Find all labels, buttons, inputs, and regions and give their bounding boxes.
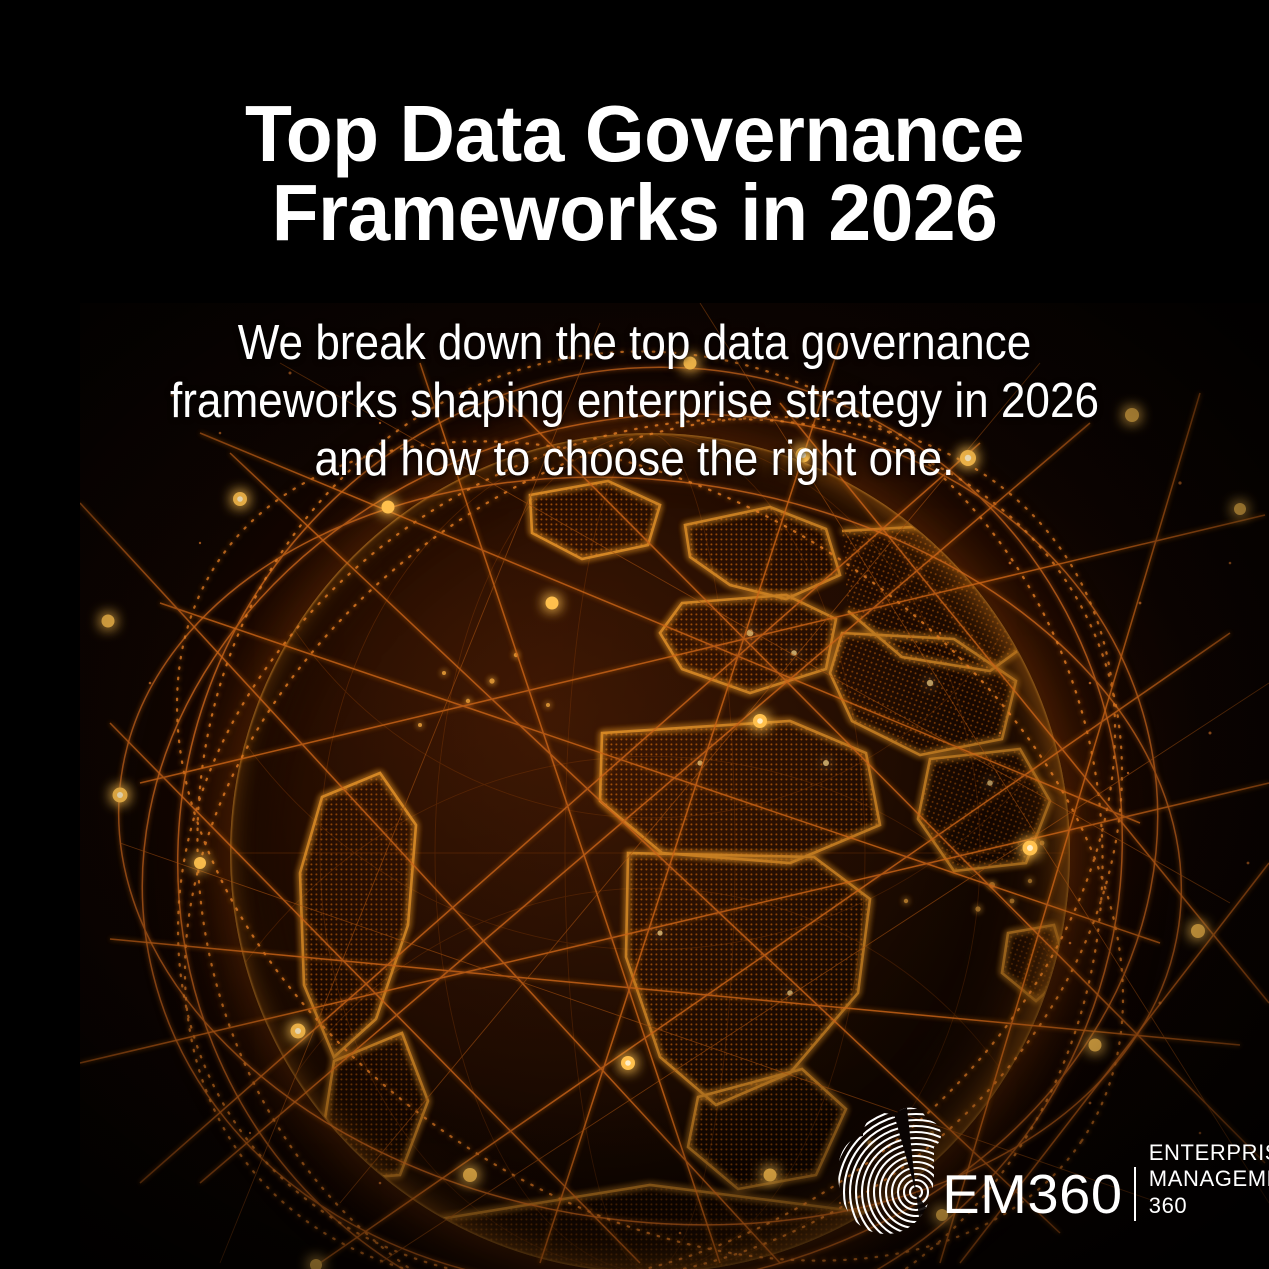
page-subtitle: We break down the top data governance fr… [63, 315, 1205, 488]
page-title: Top Data Governance Frameworks in 2026 [25, 94, 1243, 252]
logo-divider [1134, 1167, 1136, 1221]
em360-cloud-mark-icon [830, 1094, 950, 1244]
logo-text-lockup: EM360 ENTERPRISE MANAGEMENT 360 [944, 1140, 1269, 1244]
em360-logo[interactable]: EM360 ENTERPRISE MANAGEMENT 360 [830, 1094, 1230, 1244]
logo-tagline: ENTERPRISE MANAGEMENT 360 [1149, 1140, 1269, 1222]
poster-canvas: Top Data Governance Frameworks in 2026 W… [0, 0, 1269, 1269]
logo-wordmark: EM360 [942, 1167, 1122, 1222]
